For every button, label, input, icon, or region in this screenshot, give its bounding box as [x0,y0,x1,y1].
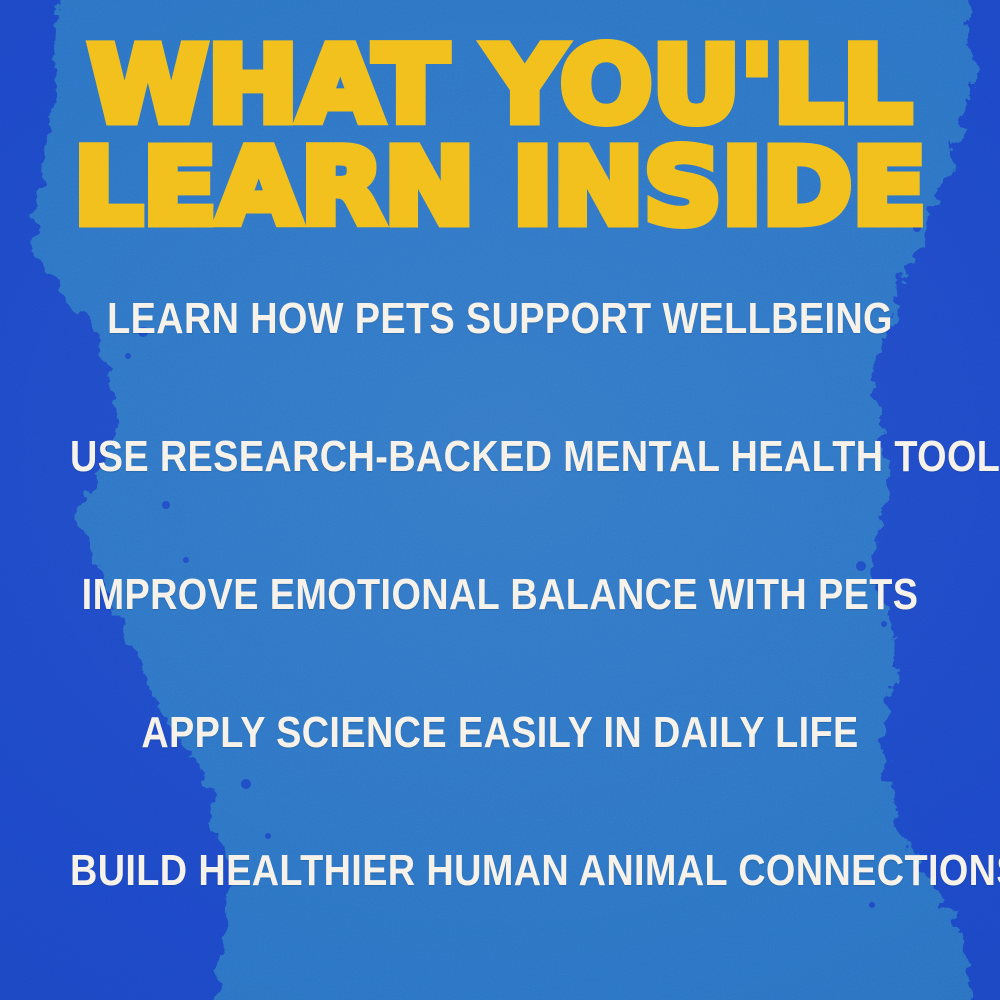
poster-content: WHAT YOU'LL LEARN INSIDE LEARN HOW PETS … [0,0,1000,1000]
list-item: USE RESEARCH-BACKED MENTAL HEALTH TOOLS [70,435,930,479]
list-item: LEARN HOW PETS SUPPORT WELLBEING [70,297,930,341]
headline-line-1: WHAT YOU'LL [0,38,1000,134]
learning-points-list: LEARN HOW PETS SUPPORT WELLBEING USE RES… [0,297,1000,893]
poster-canvas: WHAT YOU'LL LEARN INSIDE LEARN HOW PETS … [0,0,1000,1000]
list-item: IMPROVE EMOTIONAL BALANCE WITH PETS [70,573,930,617]
list-item: BUILD HEALTHIER HUMAN ANIMAL CONNECTIONS [70,849,930,893]
headline-line-2: LEARN INSIDE [0,140,1000,236]
page-title: WHAT YOU'LL LEARN INSIDE [0,0,1000,235]
list-item: APPLY SCIENCE EASILY IN DAILY LIFE [70,711,930,755]
